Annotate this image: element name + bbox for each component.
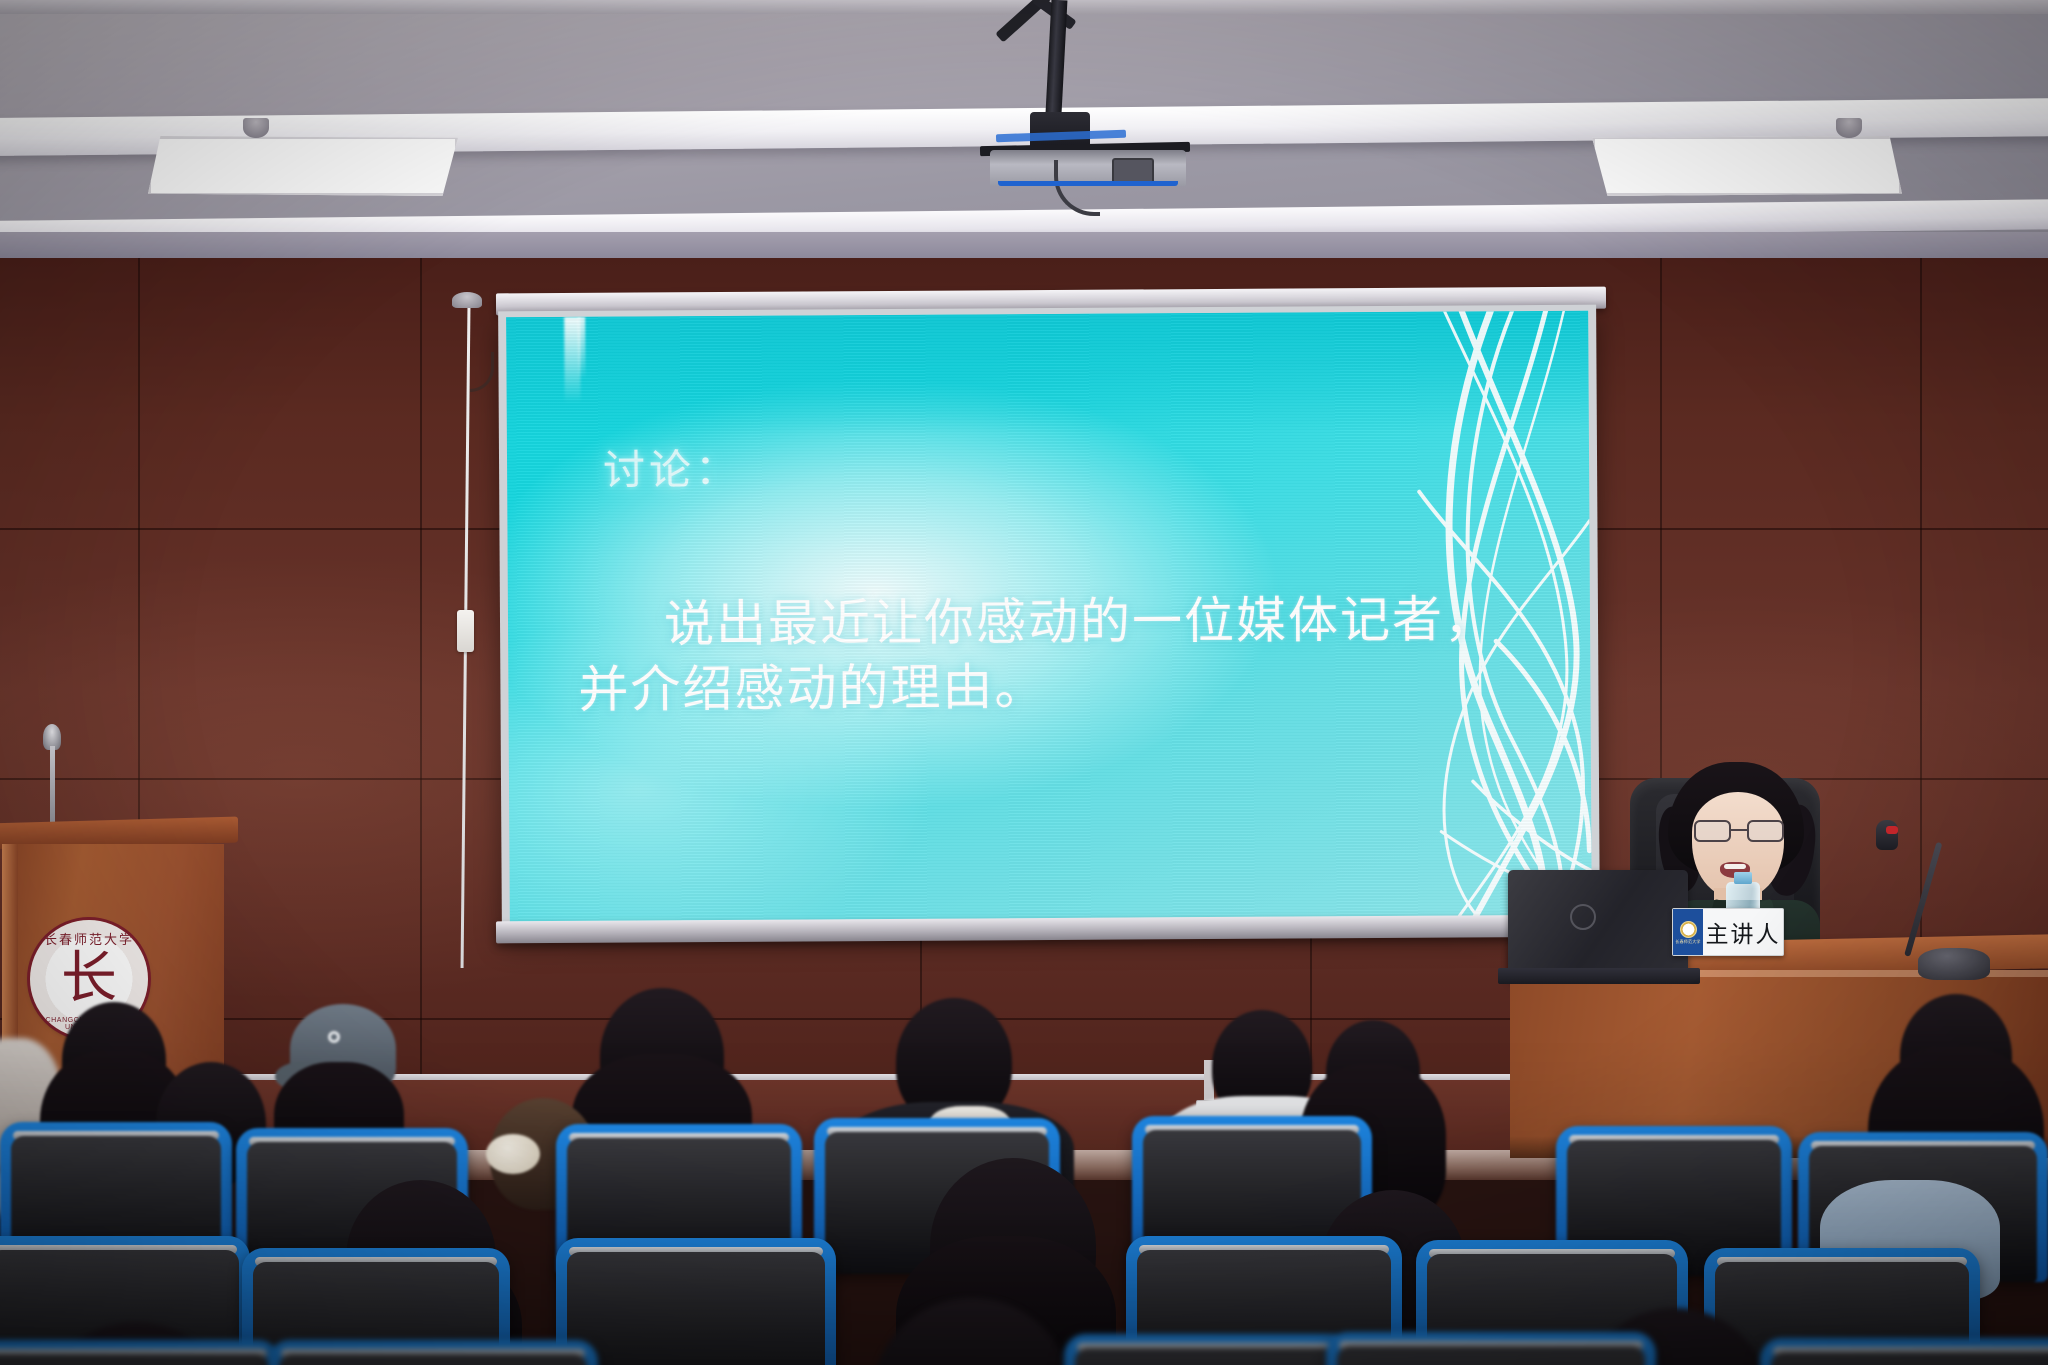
microphone-indicator-light	[1886, 826, 1898, 834]
auditorium-seat[interactable]	[1326, 1332, 1656, 1365]
recessed-led-panel-left	[148, 136, 458, 196]
speaker-nameplate: 长春师范大学 主讲人	[1672, 908, 1784, 956]
ceiling-projector	[968, 0, 1208, 186]
seat-cushion	[279, 1354, 587, 1365]
projected-slide: 讨论： 说出最近让你感动的一位媒体记者， 并介绍感动的理由。	[506, 311, 1592, 923]
glasses-lens-left	[1694, 820, 1731, 842]
bottle-cap	[1734, 872, 1752, 884]
podium-microphone-stand	[50, 746, 55, 826]
presenter-laptop[interactable]	[1508, 870, 1688, 982]
seat-cushion	[567, 1252, 825, 1365]
seal-chinese-name: 长春师范大学	[30, 929, 148, 948]
recessed-led-panel-right	[1592, 136, 1902, 196]
audience-hair-scrunchie	[486, 1134, 540, 1174]
lecture-hall-scene: 讨论： 说出最近让你感动的一位媒体记者， 并介绍感动的理由。 长春师范大学 长 …	[0, 0, 2048, 1365]
slide-text-block: 讨论： 说出最近让你感动的一位媒体记者， 并介绍感动的理由。	[506, 311, 1592, 923]
glasses-lens-right	[1747, 820, 1784, 842]
seal-glyph: 长	[61, 951, 117, 1007]
laptop-logo-icon	[1570, 904, 1596, 930]
laptop-lid	[1508, 870, 1688, 970]
nameplate-seal-icon	[1680, 921, 1697, 938]
auditorium-seat[interactable]	[1760, 1338, 2048, 1365]
wall-seam	[420, 258, 422, 1158]
desk-microphone-head	[1876, 820, 1898, 850]
seat-cushion	[1771, 1352, 2048, 1365]
slide-title: 讨论：	[603, 436, 741, 498]
projector-accent-stripe	[998, 181, 1178, 186]
laptop-base	[1498, 968, 1700, 984]
seat-cushion	[0, 1354, 269, 1365]
nameplate-badge: 长春师范大学	[1673, 909, 1703, 955]
ceiling-cable-hook	[452, 292, 482, 308]
auditorium-seat[interactable]	[0, 1340, 280, 1365]
cap-eyelet	[328, 1031, 340, 1043]
hanging-cable-clip	[457, 610, 474, 652]
nameplate-label: 主讲人	[1703, 909, 1783, 955]
slide-body-line-1: 说出最近让你感动的一位媒体记者，	[578, 587, 1538, 658]
glasses-bridge	[1731, 829, 1747, 831]
presenter-glasses-icon	[1692, 820, 1786, 842]
ceiling-hanger-right	[1836, 118, 1862, 138]
slide-body-line-2: 并介绍感动的理由。	[578, 652, 1538, 723]
auditorium-seat[interactable]	[268, 1340, 598, 1365]
nameplate-badge-text: 长春师范大学	[1675, 940, 1700, 944]
audience-seating	[0, 1040, 2048, 1365]
ceiling-hanger-left	[243, 118, 269, 138]
seat-cushion	[1337, 1346, 1645, 1365]
desk-microphone[interactable]	[1870, 820, 1990, 980]
auditorium-seat[interactable]	[556, 1238, 836, 1365]
desk-microphone-neck	[1904, 842, 1942, 957]
desk-microphone-base	[1918, 948, 1990, 980]
projection-screen-frame: 讨论： 说出最近让你感动的一位媒体记者， 并介绍感动的理由。	[498, 305, 1600, 932]
slide-body: 说出最近让你感动的一位媒体记者， 并介绍感动的理由。	[578, 587, 1539, 723]
